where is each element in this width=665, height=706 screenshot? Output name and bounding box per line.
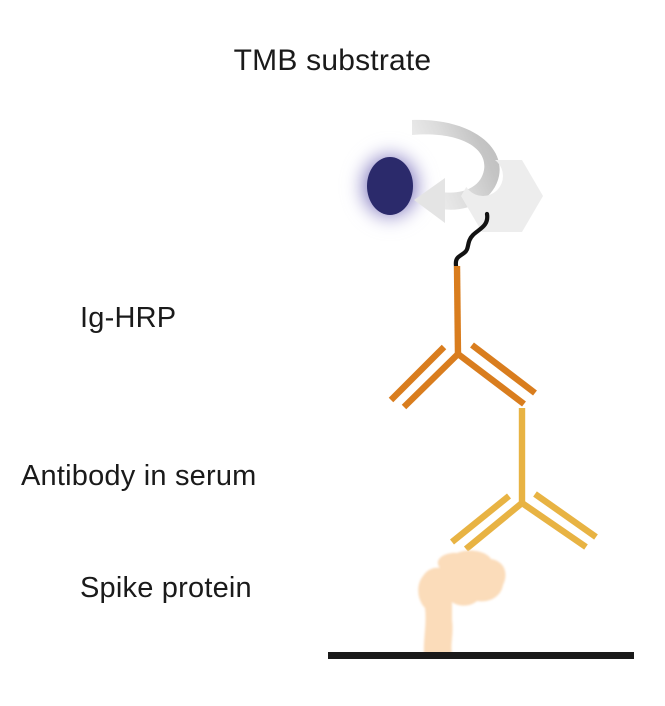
chromogen-product-group — [350, 142, 430, 230]
hrp-enzyme-group — [461, 160, 543, 232]
spike-protein-shape — [418, 551, 505, 654]
hrp-hexagon — [461, 160, 543, 232]
label-tmb-substrate: TMB substrate — [0, 44, 665, 77]
primary-antibody-group — [452, 408, 596, 549]
elisa-schematic-figure: TMB substrate Ig-HRP Antibody in serum S… — [0, 0, 665, 706]
secondary-antibody-stem — [457, 266, 458, 356]
label-ig-hrp: Ig-HRP — [80, 303, 176, 335]
secondary-antibody-group — [391, 266, 535, 407]
plate-surface-line — [328, 652, 634, 659]
label-antibody-in-serum: Antibody in serum — [21, 461, 257, 493]
chromogen-core-ellipse — [367, 157, 413, 215]
label-spike-protein: Spike protein — [80, 573, 252, 605]
